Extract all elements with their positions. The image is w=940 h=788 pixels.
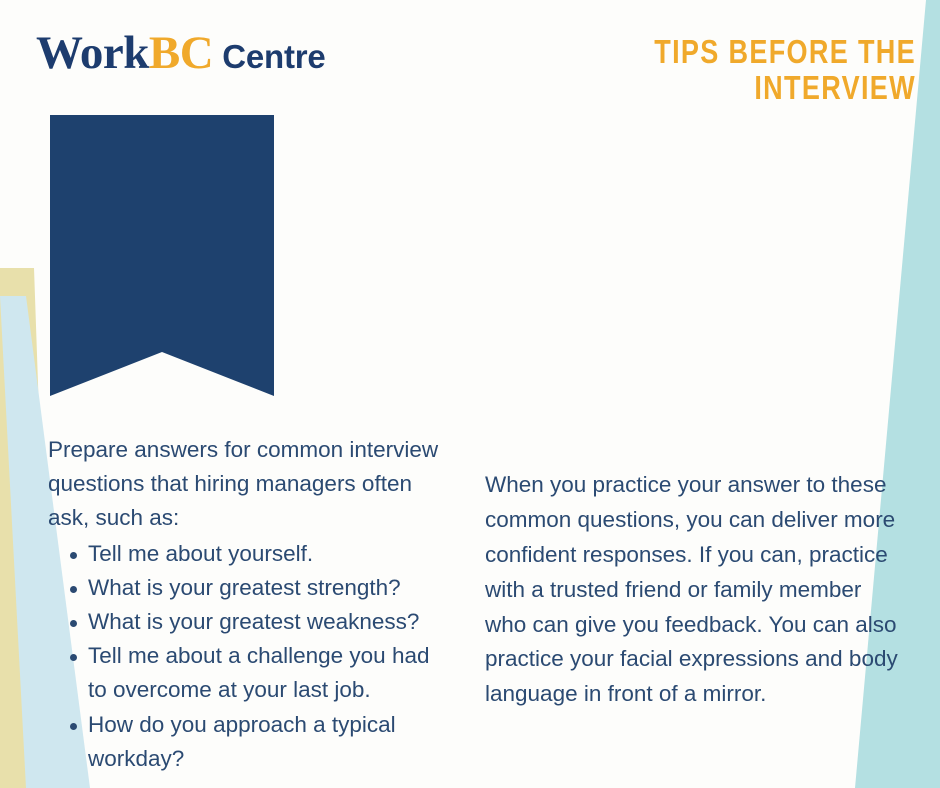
- bullet-dot-icon: [70, 552, 77, 559]
- right-paragraph: When you practice your answer to these c…: [485, 468, 905, 712]
- list-item-label: Tell me about a challenge you had to ove…: [88, 643, 430, 702]
- bullet-dot-icon: [70, 723, 77, 730]
- logo-text-work: Work: [36, 27, 149, 79]
- ribbon-shape: [50, 115, 274, 396]
- logo-text-centre: Centre: [222, 38, 325, 75]
- interview-question-list: Tell me about yourself. What is your gre…: [48, 537, 448, 776]
- list-item: Tell me about yourself.: [48, 537, 448, 571]
- list-item-label: What is your greatest strength?: [88, 575, 401, 600]
- left-intro-paragraph: Prepare answers for common interview que…: [48, 433, 448, 536]
- list-item: Tell me about a challenge you had to ove…: [48, 639, 448, 707]
- slide-canvas: WorkBCCentre Tips Before the Interview P…: [0, 0, 940, 788]
- bullet-dot-icon: [70, 620, 77, 627]
- list-item: What is your greatest strength?: [48, 571, 448, 605]
- list-item-label: How do you approach a typical workday?: [88, 712, 396, 771]
- logo-text-bc: BC: [149, 27, 213, 79]
- bullet-dot-icon: [70, 654, 77, 661]
- list-item-label: What is your greatest weakness?: [88, 609, 419, 634]
- list-item: What is your greatest weakness?: [48, 605, 448, 639]
- slide-title: Tips Before the Interview: [522, 34, 916, 105]
- band-yellow-left: [0, 268, 52, 788]
- list-item: How do you approach a typical workday?: [48, 708, 448, 776]
- bullet-dot-icon: [70, 586, 77, 593]
- slide-title-line-1: Tips Before the: [522, 34, 916, 70]
- slide-title-line-2: Interview: [522, 70, 916, 106]
- list-item-label: Tell me about yourself.: [88, 541, 313, 566]
- banner-ribbon-graphic: [50, 115, 274, 396]
- workbc-logo: WorkBCCentre: [36, 30, 326, 77]
- right-text-column: When you practice your answer to these c…: [485, 468, 905, 712]
- left-text-column: Prepare answers for common interview que…: [48, 433, 448, 776]
